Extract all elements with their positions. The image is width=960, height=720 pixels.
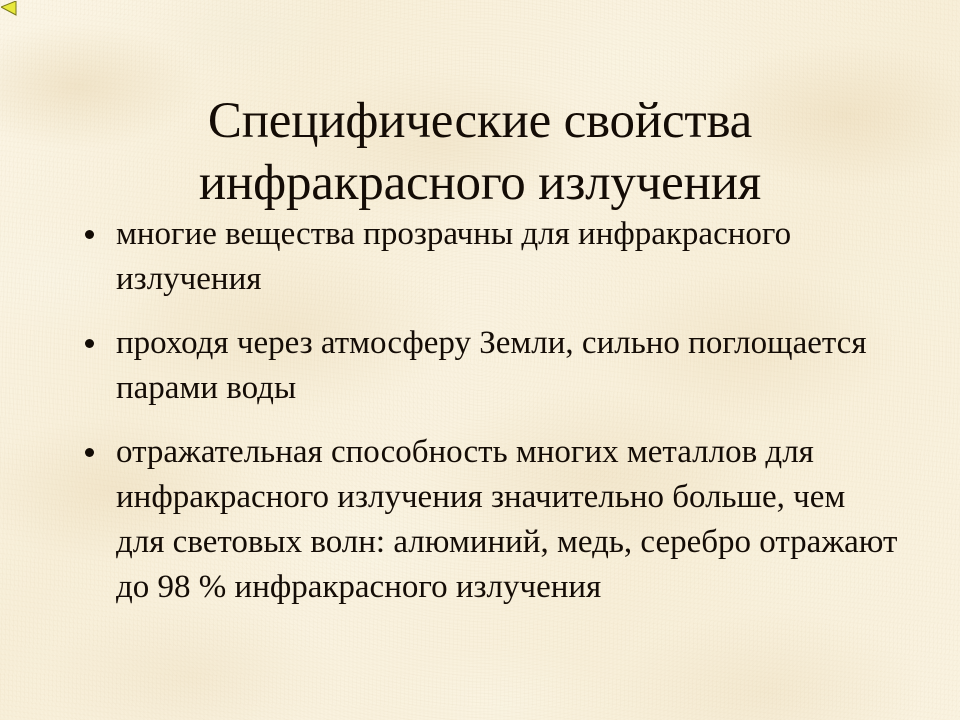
presentation-slide: Специфические свойства инфракрасного изл…: [0, 0, 960, 720]
list-item: проходя через атмосферу Земли, сильно по…: [70, 321, 900, 411]
bullet-text: проходя через атмосферу Земли, сильно по…: [116, 321, 900, 411]
list-item: отражательная способность многих металло…: [70, 430, 900, 610]
list-item: многие вещества прозрачны для инфракрасн…: [70, 212, 900, 302]
slide-title-line-1: Специфические свойства: [60, 90, 900, 152]
bullet-dot-icon: [85, 339, 94, 348]
slide-title: Специфические свойства инфракрасного изл…: [60, 90, 900, 214]
bullet-dot-icon: [85, 448, 94, 457]
triangle-left-icon[interactable]: [1, 1, 17, 16]
slide-title-line-2: инфракрасного излучения: [60, 152, 900, 214]
bullet-text: многие вещества прозрачны для инфракрасн…: [116, 212, 900, 302]
bullet-text: отражательная способность многих металло…: [116, 430, 900, 610]
bullet-dot-icon: [85, 230, 94, 239]
slide-bullet-list: многие вещества прозрачны для инфракрасн…: [70, 212, 900, 610]
